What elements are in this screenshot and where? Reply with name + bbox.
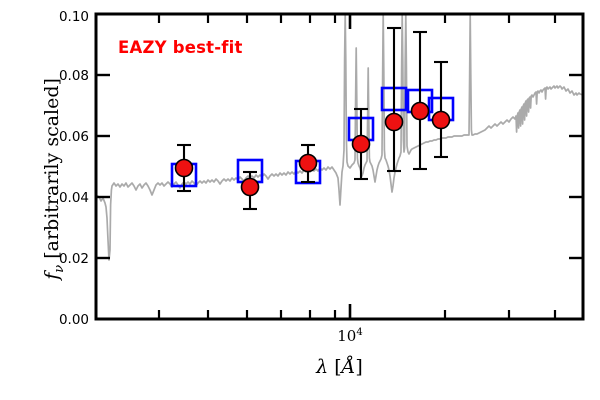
y-axis-label: fν [arbitrarily scaled] [41,29,67,329]
model-photometry-squares [172,88,453,186]
x-tick-label: 104 [337,327,362,345]
sed-plot: 0.00 0.02 0.04 0.06 0.08 0.10 104 [0,0,600,400]
y-tick-label: 0.10 [59,9,89,25]
x-axis-label: λ [Å] [96,356,583,378]
figure-canvas: 0.00 0.02 0.04 0.06 0.08 0.10 104 fν [ar… [0,0,600,400]
eazy-best-fit-annotation: EAZY best-fit [118,38,243,57]
y-axis-ticks [96,14,583,319]
axes-frame [96,14,583,319]
